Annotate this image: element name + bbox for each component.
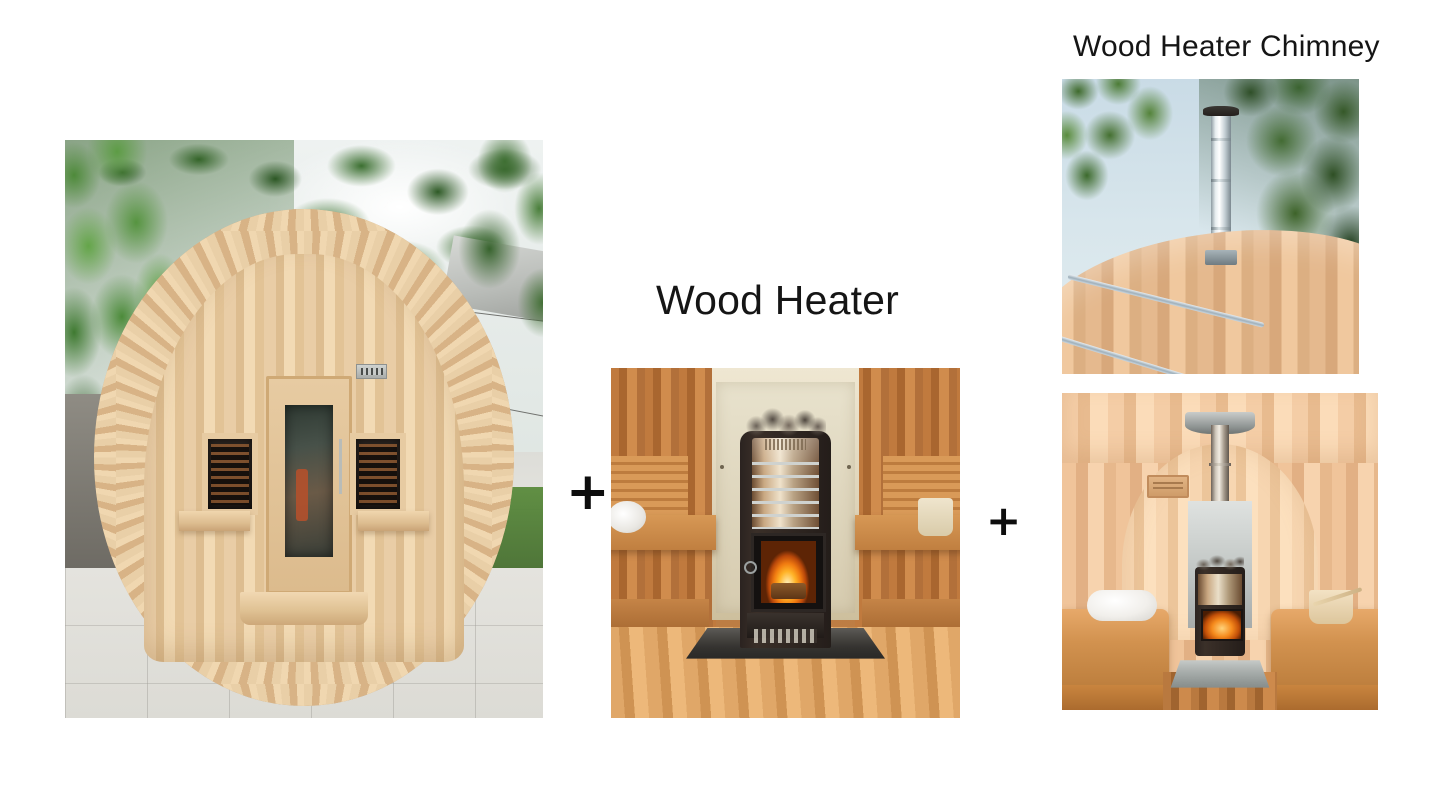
stove-door-knob[interactable]: [744, 561, 757, 574]
wall-vent: [356, 364, 387, 379]
stove-fire-door[interactable]: [751, 533, 827, 613]
sauna-lower-bench-right: [862, 599, 960, 631]
deciduous-trees: [1062, 79, 1187, 256]
chimney-seam: [1211, 179, 1232, 182]
sauna-rocks: [745, 408, 825, 438]
stove-floor-pan: [1170, 660, 1269, 687]
photo-barrel-sauna-exterior[interactable]: [65, 140, 543, 718]
rolled-towels: [1087, 590, 1157, 622]
plus-operator-1: +: [566, 466, 610, 518]
slide-canvas: + Wood Heater: [0, 0, 1445, 791]
outdoor-bench-left: [179, 511, 249, 531]
sauna-lower-bench-left: [611, 599, 709, 631]
sauna-door[interactable]: [266, 376, 352, 594]
chimney-seam: [1211, 138, 1232, 141]
rolled-towel: [611, 501, 646, 533]
stove-brand-mark: [765, 439, 807, 450]
wall-vent: [1147, 475, 1189, 498]
bench-front-left: [1062, 685, 1169, 710]
stove-chrome-bars: [752, 452, 818, 529]
sauna-window-right: [350, 433, 407, 514]
chimney-rain-cap: [1203, 106, 1239, 116]
flue-joint-ring: [1209, 463, 1231, 466]
chimney-roof-flashing: [1205, 250, 1238, 265]
entry-step: [240, 592, 368, 625]
fire-flames: [761, 541, 817, 603]
stove-fire-window: [1201, 609, 1243, 642]
chimney-seam: [1211, 227, 1232, 230]
door-handle[interactable]: [339, 439, 342, 494]
sauna-bucket: [918, 498, 953, 537]
stove-chrome-panel: [1198, 574, 1242, 606]
photo-wood-heater[interactable]: [611, 368, 960, 718]
sauna-window-left: [202, 433, 259, 514]
plus-operator-2: +: [986, 500, 1021, 542]
bench-front-right: [1271, 685, 1378, 710]
barrel-sauna-scene: [65, 140, 543, 718]
sauna-rocks: [1196, 555, 1243, 571]
outdoor-bench-right: [358, 511, 428, 531]
label-wood-heater: Wood Heater: [656, 275, 899, 325]
chimney-roof-scene: [1062, 79, 1359, 374]
photo-sauna-interior[interactable]: [1062, 393, 1378, 710]
wood-heater-scene: [611, 368, 960, 718]
door-glass-panel: [285, 405, 333, 558]
sauna-interior-scene: [1062, 393, 1378, 710]
barrel-sauna-body: [94, 209, 515, 706]
label-wood-heater-chimney: Wood Heater Chimney: [1073, 28, 1380, 66]
stove-air-vent: [754, 629, 817, 643]
photo-chimney-roof[interactable]: [1062, 79, 1359, 374]
